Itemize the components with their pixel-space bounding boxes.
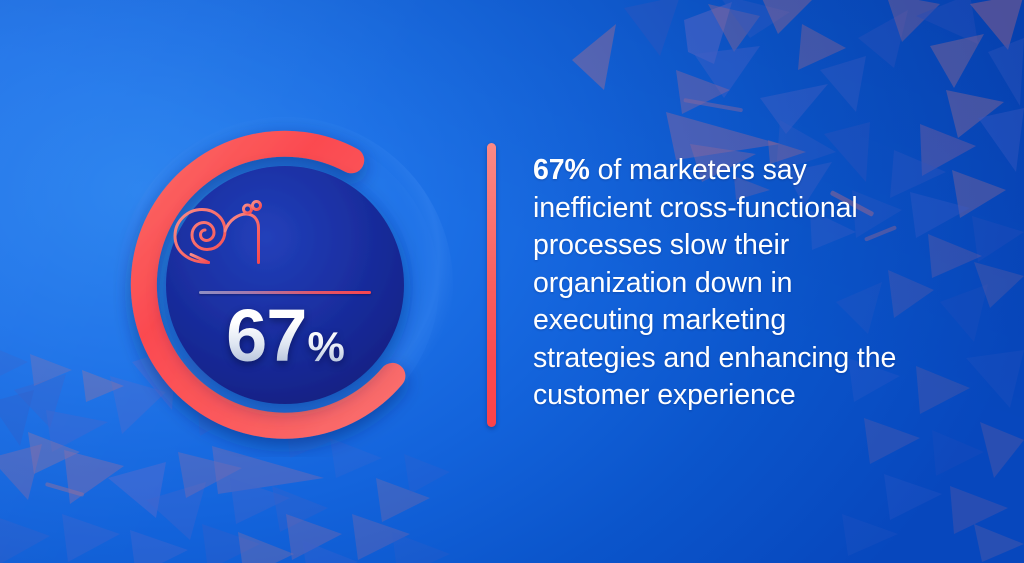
meter-inner-disc — [166, 166, 404, 404]
statement-text: 67% of marketers say inefficient cross-f… — [533, 152, 905, 415]
progress-meter: 67 % — [113, 113, 457, 457]
progress-ring — [113, 113, 457, 457]
infographic-canvas: 67 % 67% of marketers say inefficient cr… — [0, 0, 1024, 563]
vertical-accent-rule — [487, 143, 496, 427]
statement-lead: 67% — [533, 154, 590, 186]
statement-block: 67% of marketers say inefficient cross-f… — [533, 152, 905, 415]
statement-body: of marketers say inefficient cross-funct… — [533, 154, 896, 411]
